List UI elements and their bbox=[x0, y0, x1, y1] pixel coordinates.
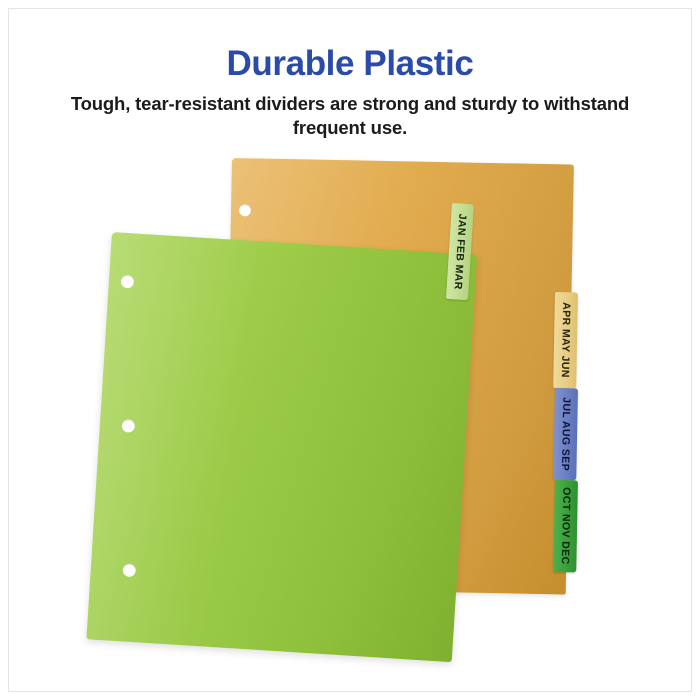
tab-apr-may-jun-label: APR MAY JUN bbox=[559, 302, 572, 378]
subheadline: Tough, tear-resistant dividers are stron… bbox=[60, 92, 640, 141]
green-divider-hole-middle bbox=[121, 419, 135, 433]
product-image-canvas: APR MAY JUN JUL AUG SEP OCT NOV DEC JAN … bbox=[0, 0, 700, 700]
green-divider-hole-top bbox=[121, 275, 135, 289]
tab-jul-aug-sep: JUL AUG SEP bbox=[553, 388, 578, 480]
green-divider bbox=[86, 232, 477, 662]
headline: Durable Plastic bbox=[0, 46, 700, 83]
green-divider-hole-bottom bbox=[122, 563, 136, 577]
tab-oct-nov-dec-label: OCT NOV DEC bbox=[559, 487, 572, 565]
tab-jan-feb-mar-label: JAN FEB MAR bbox=[452, 213, 469, 290]
tab-jul-aug-sep-label: JUL AUG SEP bbox=[559, 397, 572, 471]
tab-apr-may-jun: APR MAY JUN bbox=[553, 292, 578, 388]
tab-oct-nov-dec: OCT NOV DEC bbox=[553, 480, 578, 572]
orange-divider-hole-top bbox=[239, 204, 251, 216]
marketing-text-block: Durable Plastic Tough, tear-resistant di… bbox=[0, 46, 700, 141]
